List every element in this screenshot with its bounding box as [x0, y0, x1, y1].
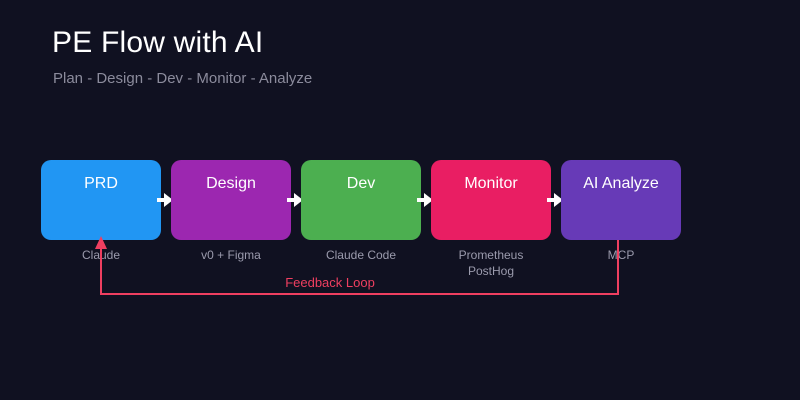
flow-stage-label: Dev [301, 174, 421, 194]
flow-stage-dev[interactable]: Dev [301, 160, 421, 240]
flow-stage-prd[interactable]: PRD [41, 160, 161, 240]
flow-stage-row: PRD Claude Design v0 + Figma Dev Claude … [0, 0, 800, 400]
flow-stage-tool-monitor: Prometheus PostHog [416, 247, 566, 279]
flow-stage-label: Monitor [431, 174, 551, 194]
flow-stage-monitor[interactable]: Monitor [431, 160, 551, 240]
flow-stage-tool-prd: Claude [26, 247, 176, 263]
flow-stage-label: Design [171, 174, 291, 194]
diagram-canvas: PE Flow with AI Plan - Design - Dev - Mo… [0, 0, 800, 400]
flow-stage-tool-dev: Claude Code [286, 247, 436, 263]
flow-stage-label: PRD [41, 174, 161, 194]
feedback-loop-label: Feedback Loop [260, 275, 400, 291]
flow-stage-ai-analyze[interactable]: AI Analyze [561, 160, 681, 240]
flow-stage-design[interactable]: Design [171, 160, 291, 240]
flow-stage-tool-ai-analyze: MCP [546, 247, 696, 263]
flow-stage-tool-design: v0 + Figma [156, 247, 306, 263]
flow-stage-label: AI Analyze [561, 174, 681, 194]
